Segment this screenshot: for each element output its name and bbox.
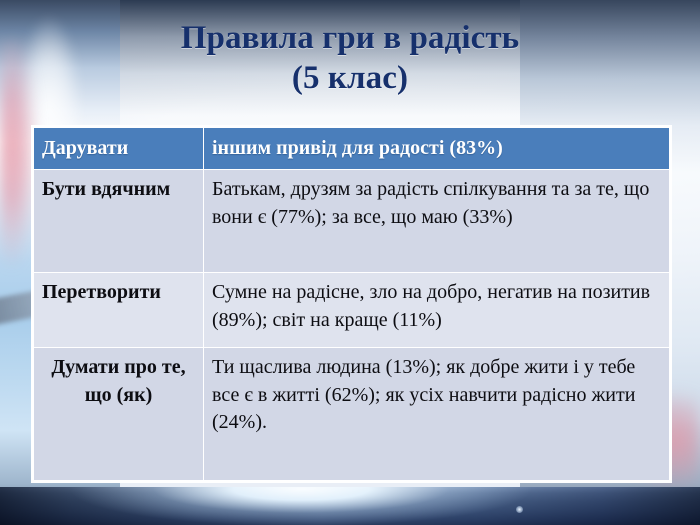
row-term: Бути вдячним (34, 170, 204, 273)
table-header: Дарувати іншим привід для радості (83%) (34, 128, 670, 170)
slide-title-line-1: Правила гри в радість (0, 18, 700, 58)
row-term: Думати про те, що (як) (34, 348, 204, 481)
header-cell-term: Дарувати (34, 128, 204, 170)
row-term: Перетворити (34, 273, 204, 348)
table-header-row: Дарувати іншим привід для радості (83%) (34, 128, 670, 170)
background-bottom-sparkle (516, 506, 523, 513)
row-description: Сумне на радісне, зло на добро, негатив … (204, 273, 670, 348)
rules-table: Дарувати іншим привід для радості (83%) … (33, 127, 670, 481)
table-body: Бути вдячним Батькам, друзям за радість … (34, 170, 670, 481)
table-row: Бути вдячним Батькам, друзям за радість … (34, 170, 670, 273)
table-row: Думати про те, що (як) Ти щаслива людина… (34, 348, 670, 481)
row-description: Батькам, друзям за радість спілкування т… (204, 170, 670, 273)
background-bottom-band (0, 487, 700, 525)
slide-canvas: Правила гри в радість (5 клас) Дарувати … (0, 0, 700, 525)
table-row: Перетворити Сумне на радісне, зло на доб… (34, 273, 670, 348)
slide-title-line-2: (5 клас) (0, 58, 700, 98)
slide-title: Правила гри в радість (5 клас) (0, 18, 700, 99)
row-description: Ти щаслива людина (13%); як добре жити і… (204, 348, 670, 481)
header-cell-description: іншим привід для радості (83%) (204, 128, 670, 170)
